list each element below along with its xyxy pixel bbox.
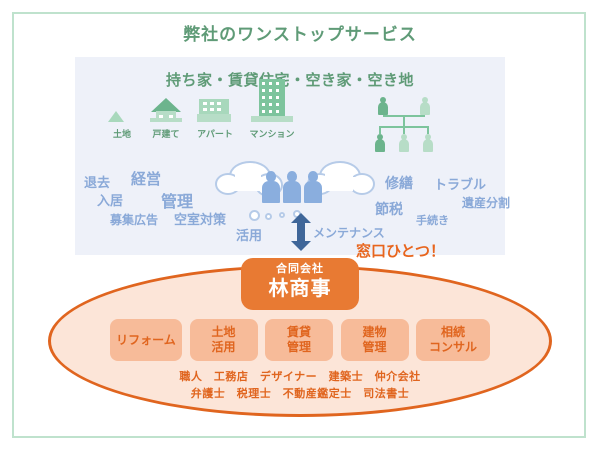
- service-pill-rental-management[interactable]: 賃貸 管理: [265, 319, 333, 361]
- company-name-label: 林商事: [241, 276, 359, 300]
- one-window-callout: 窓口ひとつ！: [356, 240, 445, 261]
- company-badge: 合同会社 林商事: [241, 258, 359, 310]
- worry-word: トラブル: [434, 174, 486, 193]
- property-label: アパート: [189, 127, 241, 140]
- service-line: 管理: [287, 340, 311, 355]
- thought-bubble-dot: [249, 210, 260, 221]
- service-line: 賃貸: [287, 325, 311, 340]
- service-pill-row: リフォーム 土地 活用 賃貸 管理 建物 管理 相続 コンサル: [110, 318, 490, 362]
- service-line: 活用: [211, 340, 235, 355]
- service-line: リフォーム: [116, 333, 176, 348]
- partner-row: 職人 工務店 デザイナー 建築士 仲介会社: [0, 368, 600, 385]
- thought-bubble-dot: [265, 213, 272, 220]
- worry-word: 活用: [236, 225, 262, 244]
- property-label: 土地: [99, 127, 145, 140]
- worry-word: 修繕: [385, 173, 413, 193]
- property-label: マンション: [243, 127, 301, 140]
- service-pill-land-use[interactable]: 土地 活用: [190, 319, 258, 361]
- partner-row: 弁護士 税理士 不動産鑑定士 司法書士: [0, 385, 600, 402]
- worry-word: 手続き: [416, 212, 449, 228]
- worry-word: 入居: [97, 190, 123, 209]
- service-line: 管理: [362, 340, 386, 355]
- land-trapezoid-icon: [108, 111, 124, 122]
- service-line: コンサル: [429, 340, 477, 355]
- service-pill-building-management[interactable]: 建物 管理: [341, 319, 409, 361]
- panel-heading: 持ち家・賃貸住宅・空き家・空き地: [75, 69, 505, 90]
- property-icon-row: 土地 戸建て アパート: [95, 95, 345, 157]
- double-headed-vertical-arrow-icon: [291, 213, 311, 251]
- worry-word: 節税: [375, 199, 403, 219]
- service-line: 相続: [441, 325, 465, 340]
- worry-word: 募集広告: [110, 211, 158, 228]
- worry-word: メンテナンス: [313, 224, 385, 241]
- partner-list: 職人 工務店 デザイナー 建築士 仲介会社 弁護士 税理士 不動産鑑定士 司法書…: [0, 368, 600, 402]
- service-pill-inheritance-consulting[interactable]: 相続 コンサル: [416, 319, 490, 361]
- owner-figure-icon: [283, 171, 301, 203]
- thought-bubble-dot: [279, 212, 285, 218]
- family-tree-icon: [371, 95, 455, 157]
- worry-word: 遺産分割: [462, 194, 510, 211]
- service-pill-reform[interactable]: リフォーム: [110, 319, 182, 361]
- worry-word: 退去: [84, 172, 110, 191]
- page-title: 弊社のワンストップサービス: [0, 20, 600, 45]
- service-line: 土地: [211, 325, 235, 340]
- owner-figure-icon: [304, 171, 322, 203]
- property-label: 戸建て: [143, 127, 189, 140]
- worry-word: 空室対策: [174, 209, 226, 228]
- service-line: 建物: [362, 325, 386, 340]
- company-kind-label: 合同会社: [241, 262, 359, 276]
- worry-word: 経営: [131, 168, 161, 189]
- owner-figure-icon: [262, 171, 280, 203]
